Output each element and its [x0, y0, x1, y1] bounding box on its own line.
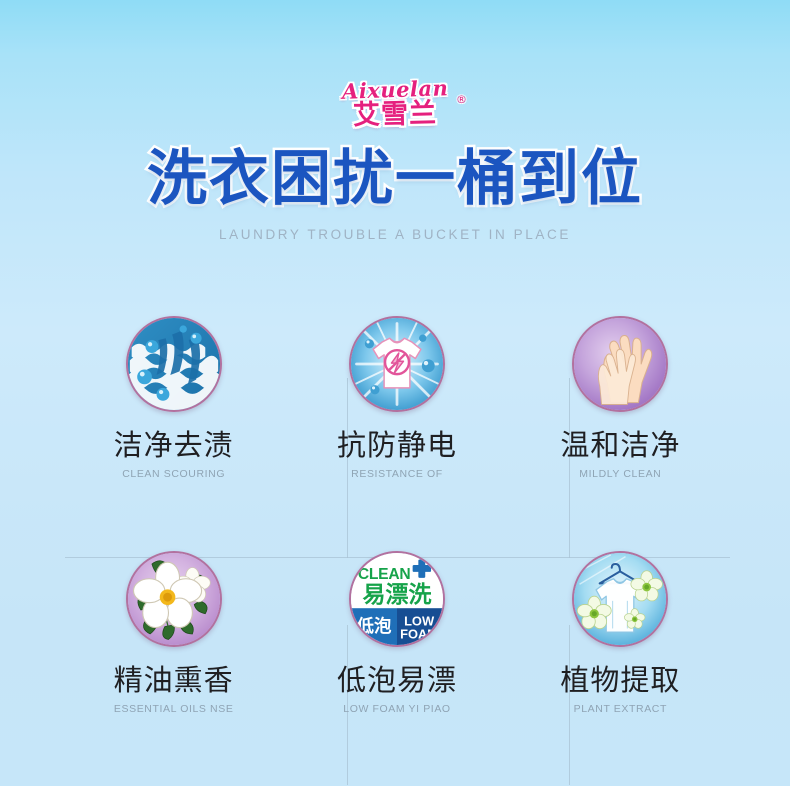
feature-label-en: PLANT EXTRACT — [574, 703, 667, 715]
gentle-hands-icon — [572, 316, 668, 412]
feature-label-cn: 抗防静电 — [337, 430, 457, 462]
registered-trademark-icon: ® — [456, 93, 467, 106]
feature-item: 植物提取 PLANT EXTRACT — [509, 545, 732, 780]
low-foam-badge-icon: CLEAN 易漂洗 低泡 LOW FOAM — [349, 551, 445, 647]
fabric-bubbles-icon — [126, 316, 222, 412]
feature-item: 温和洁净 MILDLY CLEAN — [509, 310, 732, 545]
feature-label-en: MILDLY CLEAN — [579, 468, 661, 480]
feature-label-en: ESSENTIAL OILS NSE — [114, 703, 234, 715]
page-title: 洗衣困扰一桶到位 — [0, 148, 790, 211]
brand-chinese-name: 艾雪兰 — [353, 99, 438, 128]
feature-label-en: RESISTANCE OF — [351, 468, 443, 480]
anti-static-shirt-icon — [349, 316, 445, 412]
feature-label-cn: 植物提取 — [560, 665, 680, 697]
feature-item: 精油熏香 ESSENTIAL OILS NSE — [62, 545, 285, 780]
feature-label-cn: 洁净去渍 — [114, 430, 234, 462]
brand-logo: Aixuelan 艾雪兰 ® — [0, 72, 790, 134]
feature-label-cn: 精油熏香 — [114, 665, 234, 697]
promo-banner: Aixuelan 艾雪兰 ® 洗衣困扰一桶到位 LAUNDRY TROUBLE … — [0, 0, 790, 786]
hanging-shirt-flowers-icon — [572, 551, 668, 647]
brand-script-name: Aixuelan — [342, 77, 449, 102]
svg-text:CLEAN: CLEAN — [358, 566, 410, 583]
feature-label-cn: 低泡易漂 — [337, 665, 457, 697]
feature-grid: 洁净去渍 CLEAN SCOURING — [62, 310, 732, 780]
feature-label-en: LOW FOAM YI PIAO — [343, 703, 450, 715]
jasmine-flower-icon — [126, 551, 222, 647]
feature-label-en: CLEAN SCOURING — [122, 468, 225, 480]
svg-text:低泡: 低泡 — [356, 616, 392, 637]
svg-text:易漂洗: 易漂洗 — [362, 582, 431, 608]
svg-text:FOAM: FOAM — [400, 627, 438, 642]
page-subtitle: LAUNDRY TROUBLE A BUCKET IN PLACE — [0, 227, 790, 242]
feature-item: 抗防静电 RESISTANCE OF — [285, 310, 508, 545]
feature-item: CLEAN 易漂洗 低泡 LOW FOAM 低泡易漂 LOW FOAM YI P… — [285, 545, 508, 780]
feature-label-cn: 温和洁净 — [560, 430, 680, 462]
feature-item: 洁净去渍 CLEAN SCOURING — [62, 310, 285, 545]
